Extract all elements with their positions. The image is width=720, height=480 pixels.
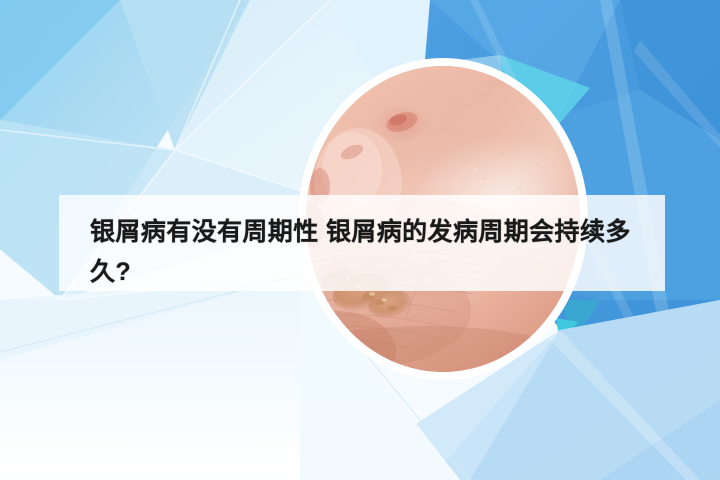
caption-band: 银屑病有没有周期性 银屑病的发病周期会持续多久? [59,195,665,291]
caption-title: 银屑病有没有周期性 银屑病的发病周期会持续多久? [90,212,646,292]
cover-image-canvas: 银屑病有没有周期性 银屑病的发病周期会持续多久? [0,0,720,480]
